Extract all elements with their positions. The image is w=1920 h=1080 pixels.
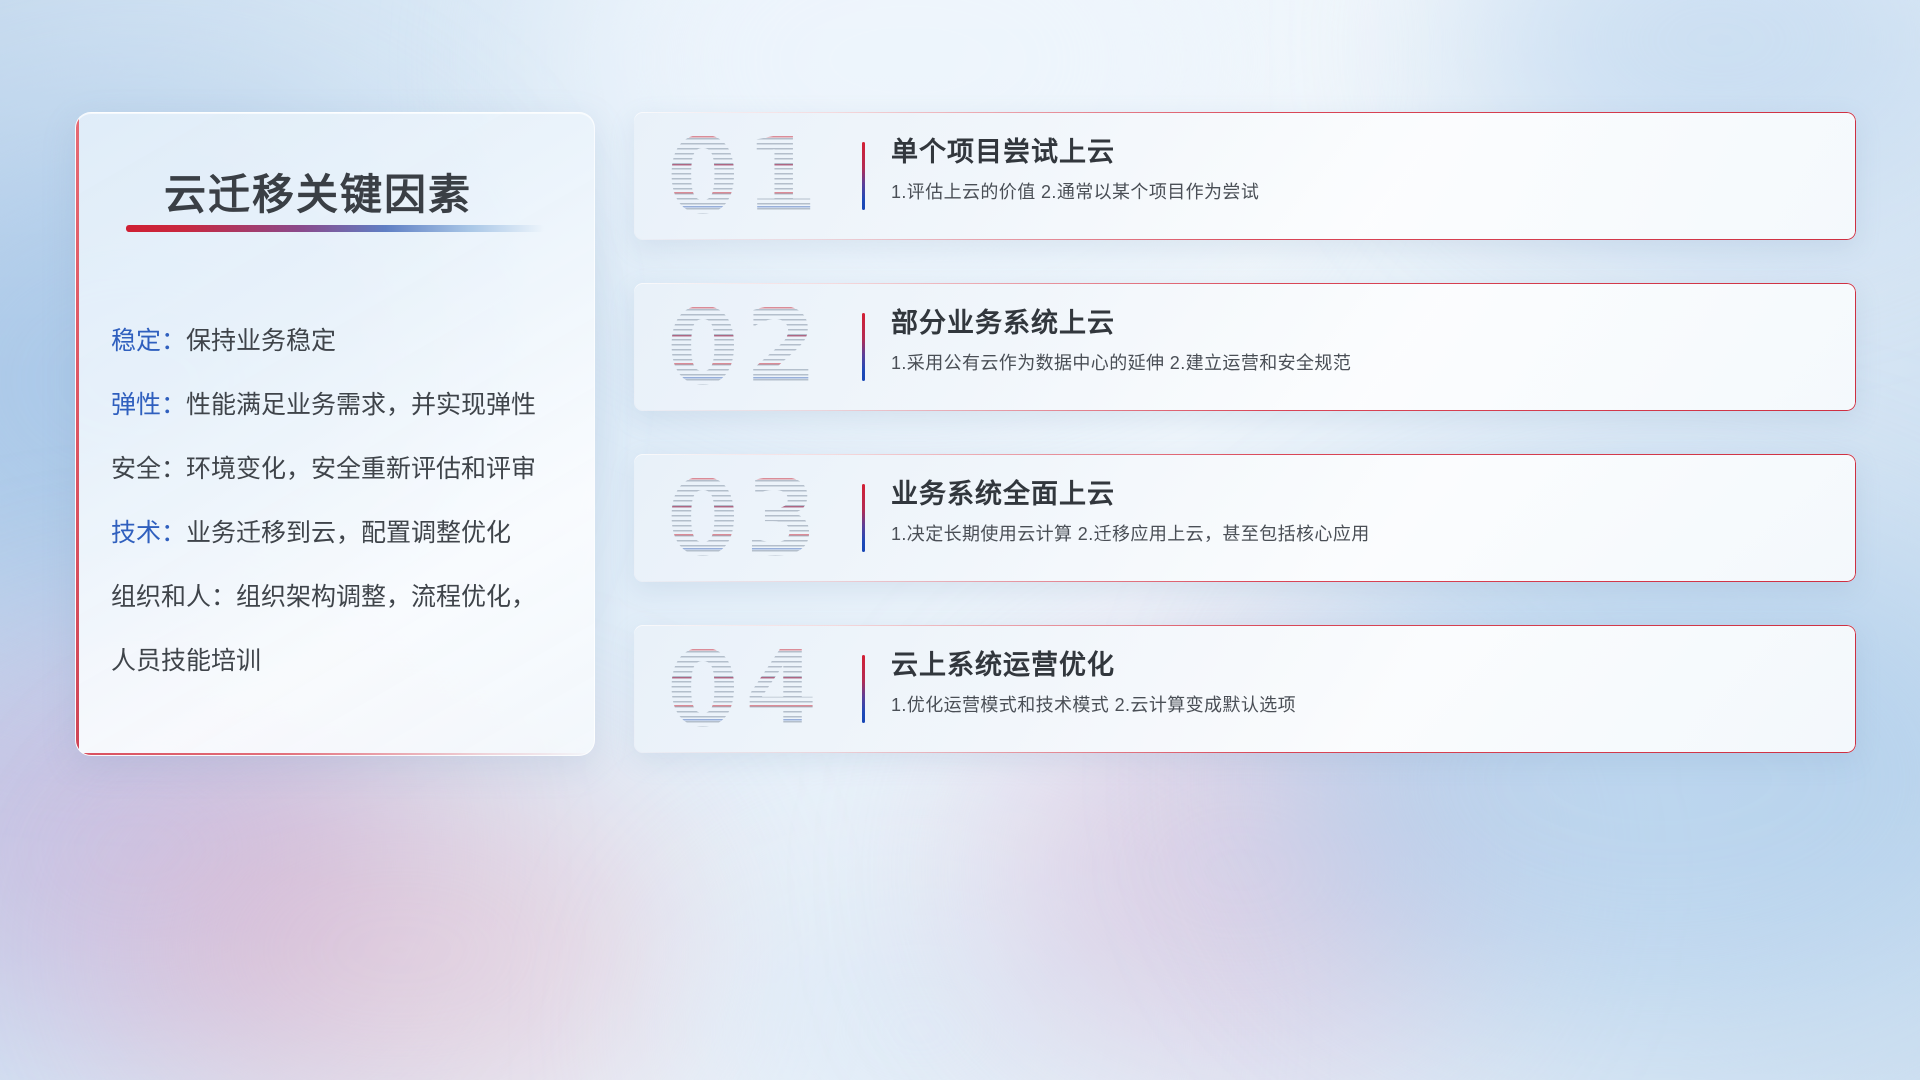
list-item-label: 稳定： bbox=[111, 327, 186, 355]
stage-title: 业务系统全面上云 bbox=[891, 474, 1838, 514]
list-item-text: 保持业务稳定 bbox=[186, 327, 336, 355]
stage-text-block: 业务系统全面上云 1.决定长期使用云计算 2.迁移应用上云，甚至包括核心应用 bbox=[891, 474, 1838, 547]
stage-title: 单个项目尝试上云 bbox=[891, 132, 1838, 172]
stage-divider-bar bbox=[862, 142, 865, 210]
stage-card-04[interactable]: 04 04 云上系统运营优化 1.优化运营模式和技术模式 2.云计算变成默认选项 bbox=[634, 625, 1856, 753]
stage-number-watermark-accent: 01 bbox=[650, 112, 840, 240]
stage-card-01[interactable]: 01 01 单个项目尝试上云 1.评估上云的价值 2.通常以某个项目作为尝试 bbox=[634, 112, 1856, 240]
page-title: 云迁移关键因素 bbox=[164, 161, 472, 222]
list-item-text: 环境变化，安全重新评估和评审 bbox=[186, 455, 536, 483]
list-item-text: 人员技能培训 bbox=[111, 647, 261, 675]
stage-text-block: 部分业务系统上云 1.采用公有云作为数据中心的延伸 2.建立运营和安全规范 bbox=[891, 303, 1838, 376]
stage-subtitle: 1.评估上云的价值 2.通常以某个项目作为尝试 bbox=[891, 179, 1838, 205]
stage-text-block: 云上系统运营优化 1.优化运营模式和技术模式 2.云计算变成默认选项 bbox=[891, 645, 1838, 718]
stage-number-watermark-accent: 02 bbox=[650, 283, 840, 411]
list-item-label: 组织和人： bbox=[111, 583, 236, 611]
title-underline-gradient bbox=[126, 225, 544, 232]
list-item: 安全：环境变化，安全重新评估和评审 bbox=[111, 437, 570, 501]
stage-number-watermark-accent: 03 bbox=[650, 454, 840, 582]
list-item: 技术：业务迁移到云，配置调整优化 bbox=[111, 501, 570, 565]
list-item: 弹性：性能满足业务需求，并实现弹性 bbox=[111, 373, 570, 437]
stage-title: 云上系统运营优化 bbox=[891, 645, 1838, 685]
stage-divider-bar bbox=[862, 313, 865, 381]
stage-subtitle: 1.决定长期使用云计算 2.迁移应用上云，甚至包括核心应用 bbox=[891, 521, 1838, 547]
key-factors-panel: 云迁移关键因素 稳定：保持业务稳定 弹性：性能满足业务需求，并实现弹性 安全：环… bbox=[75, 112, 595, 756]
list-item-text: 性能满足业务需求，并实现弹性 bbox=[186, 391, 536, 419]
list-item-label: 技术： bbox=[111, 519, 186, 547]
list-item: 组织和人：组织架构调整，流程优化， bbox=[111, 565, 570, 629]
stage-title: 部分业务系统上云 bbox=[891, 303, 1838, 343]
list-item-label: 安全： bbox=[111, 455, 186, 483]
stages-list: 01 01 单个项目尝试上云 1.评估上云的价值 2.通常以某个项目作为尝试 0… bbox=[634, 112, 1856, 796]
stage-subtitle: 1.采用公有云作为数据中心的延伸 2.建立运营和安全规范 bbox=[891, 350, 1838, 376]
stage-card-02[interactable]: 02 02 部分业务系统上云 1.采用公有云作为数据中心的延伸 2.建立运营和安… bbox=[634, 283, 1856, 411]
stage-text-block: 单个项目尝试上云 1.评估上云的价值 2.通常以某个项目作为尝试 bbox=[891, 132, 1838, 205]
stage-divider-bar bbox=[862, 484, 865, 552]
stage-number-watermark-accent: 04 bbox=[650, 625, 840, 753]
list-item: 稳定：保持业务稳定 bbox=[111, 309, 570, 373]
list-item-text: 组织架构调整，流程优化， bbox=[236, 583, 536, 611]
stage-card-03[interactable]: 03 03 业务系统全面上云 1.决定长期使用云计算 2.迁移应用上云，甚至包括… bbox=[634, 454, 1856, 582]
stage-subtitle: 1.优化运营模式和技术模式 2.云计算变成默认选项 bbox=[891, 692, 1838, 718]
stage-divider-bar bbox=[862, 655, 865, 723]
list-item-text: 业务迁移到云，配置调整优化 bbox=[186, 519, 511, 547]
list-item: 人员技能培训 bbox=[111, 629, 570, 693]
list-item-label: 弹性： bbox=[111, 391, 186, 419]
key-factors-list: 稳定：保持业务稳定 弹性：性能满足业务需求，并实现弹性 安全：环境变化，安全重新… bbox=[111, 309, 570, 693]
